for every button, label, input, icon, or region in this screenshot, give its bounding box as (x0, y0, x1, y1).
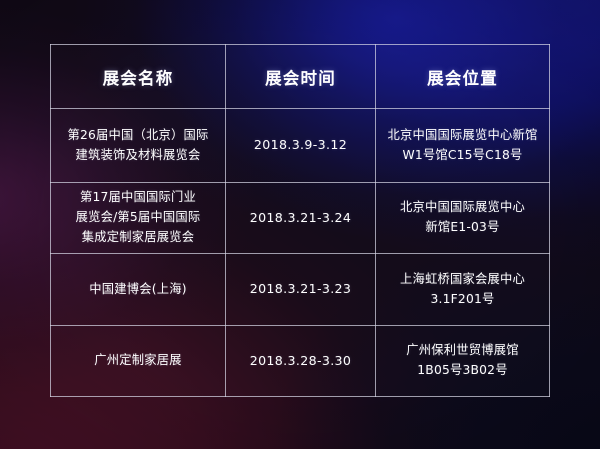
cell-exhibition-location: 上海虹桥国家会展中心 3.1F201号 (376, 254, 550, 326)
cell-exhibition-time: 2018.3.9-3.12 (226, 109, 376, 183)
text-line: 上海虹桥国家会展中心 (382, 270, 543, 290)
cell-exhibition-name: 广州定制家居展 (51, 326, 226, 397)
table-row: 广州定制家居展 2018.3.28-3.30 广州保利世贸博展馆 1B05号3B… (51, 326, 550, 397)
text-line: 广州定制家居展 (57, 351, 219, 371)
table-row: 中国建博会(上海) 2018.3.21-3.23 上海虹桥国家会展中心 3.1F… (51, 254, 550, 326)
text-line: 北京中国国际展览中心新馆 (382, 126, 543, 146)
cell-exhibition-location: 北京中国国际展览中心新馆 W1号馆C15号C18号 (376, 109, 550, 183)
column-header-time: 展会时间 (226, 45, 376, 109)
text-line: 第26届中国（北京）国际 (57, 126, 219, 146)
cell-exhibition-location: 广州保利世贸博展馆 1B05号3B02号 (376, 326, 550, 397)
cell-exhibition-name: 第17届中国国际门业 展览会/第5届中国国际 集成定制家居展览会 (51, 183, 226, 254)
cell-exhibition-time: 2018.3.28-3.30 (226, 326, 376, 397)
cell-exhibition-name: 中国建博会(上海) (51, 254, 226, 326)
table-header-row: 展会名称 展会时间 展会位置 (51, 45, 550, 109)
text-line: 广州保利世贸博展馆 (382, 341, 543, 361)
cell-exhibition-time: 2018.3.21-3.23 (226, 254, 376, 326)
column-header-name: 展会名称 (51, 45, 226, 109)
cell-exhibition-location: 北京中国国际展览中心 新馆E1-03号 (376, 183, 550, 254)
text-line: 1B05号3B02号 (382, 361, 543, 381)
text-line: 新馆E1-03号 (382, 218, 543, 238)
text-line: 北京中国国际展览中心 (382, 198, 543, 218)
cell-exhibition-name: 第26届中国（北京）国际 建筑装饰及材料展览会 (51, 109, 226, 183)
table-row: 第26届中国（北京）国际 建筑装饰及材料展览会 2018.3.9-3.12 北京… (51, 109, 550, 183)
text-line: 中国建博会(上海) (57, 280, 219, 300)
column-header-location: 展会位置 (376, 45, 550, 109)
text-line: 集成定制家居展览会 (57, 228, 219, 248)
table-header: 展会名称 展会时间 展会位置 (51, 45, 550, 109)
text-line: W1号馆C15号C18号 (382, 146, 543, 166)
text-line: 3.1F201号 (382, 290, 543, 310)
exhibition-schedule-table: 展会名称 展会时间 展会位置 第26届中国（北京）国际 建筑装饰及材料展览会 2… (50, 44, 550, 397)
table-body: 第26届中国（北京）国际 建筑装饰及材料展览会 2018.3.9-3.12 北京… (51, 109, 550, 397)
text-line: 第17届中国国际门业 (57, 188, 219, 208)
table-row: 第17届中国国际门业 展览会/第5届中国国际 集成定制家居展览会 2018.3.… (51, 183, 550, 254)
text-line: 建筑装饰及材料展览会 (57, 146, 219, 166)
cell-exhibition-time: 2018.3.21-3.24 (226, 183, 376, 254)
text-line: 展览会/第5届中国国际 (57, 208, 219, 228)
